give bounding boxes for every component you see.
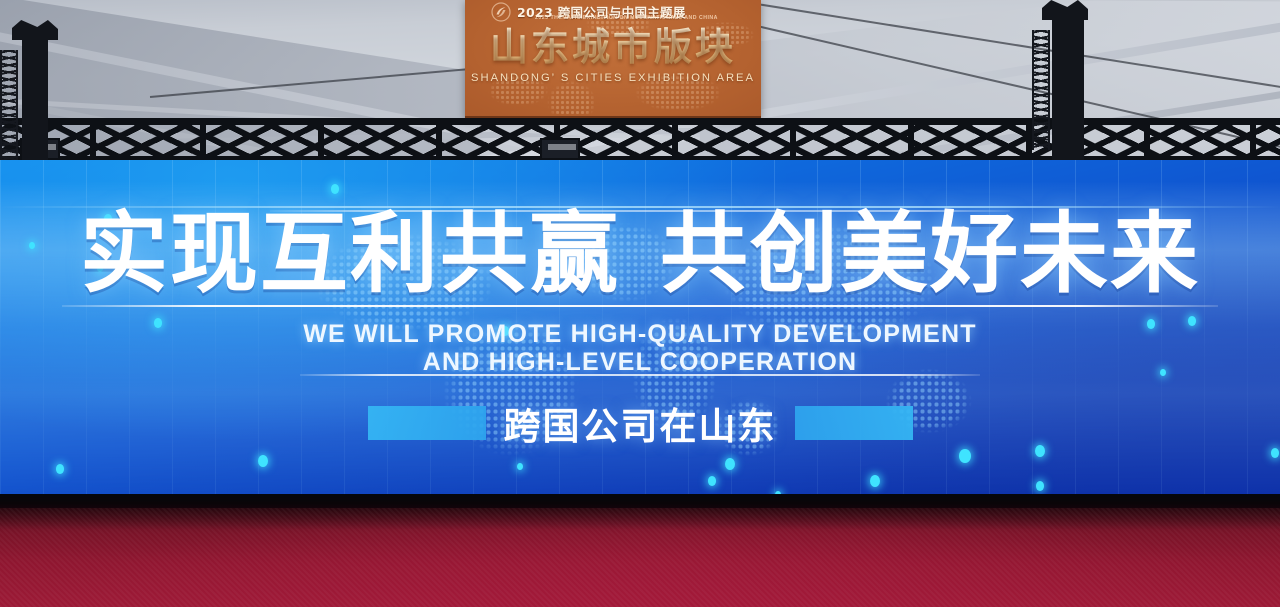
accent-bar-right xyxy=(795,406,913,440)
tower-mast-lattice xyxy=(1032,30,1050,150)
truss-post xyxy=(1144,118,1150,164)
led-particle-dot xyxy=(870,475,880,487)
truss-top-chord xyxy=(0,118,1280,125)
subtitle-line-2: AND HIGH-LEVEL COOPERATION xyxy=(0,348,1280,376)
led-headline: 实现互利共赢共创美好未来 xyxy=(0,206,1280,302)
shandong-exhibition-logo-icon xyxy=(491,2,511,22)
truss-post xyxy=(200,118,206,164)
accent-bar-left xyxy=(368,406,486,440)
stage-light-tower-right xyxy=(1052,10,1084,160)
led-particle-dot xyxy=(725,458,735,470)
truss-post xyxy=(790,118,796,164)
led-particle-dot xyxy=(1036,481,1044,491)
sign-main-title-en: SHANDONG’ S CITIES EXHIBITION AREA xyxy=(465,72,761,84)
screenshot-root: 2023 跨国公司与中国主题展 2023 THEMATIC EXHIBITION… xyxy=(0,0,1280,607)
led-bottom-title-cn: 跨国公司在山东 xyxy=(504,396,777,450)
led-subtitle: WE WILL PROMOTE HIGH-QUALITY DEVELOPMENT… xyxy=(0,320,1280,376)
led-particle-dot xyxy=(258,455,268,467)
sign-main-title-cn: 山东城市版块 xyxy=(465,26,761,68)
sign-top-title-en: 2023 THEMATIC EXHIBITION ON MULTINATIONA… xyxy=(535,15,718,21)
hanging-exhibition-sign: 2023 跨国公司与中国主题展 2023 THEMATIC EXHIBITION… xyxy=(465,0,761,118)
truss-mounted-fixture xyxy=(540,138,580,160)
subtitle-line-1: WE WILL PROMOTE HIGH-QUALITY DEVELOPMENT xyxy=(0,320,1280,348)
red-carpet-floor xyxy=(0,508,1280,607)
carpet-weave-texture xyxy=(0,508,1280,607)
stage-truss-beam xyxy=(0,118,1280,164)
truss-post xyxy=(90,118,96,164)
led-particle-dot xyxy=(56,464,64,474)
tower-mast-lattice xyxy=(0,50,18,170)
truss-post xyxy=(672,118,678,164)
truss-post xyxy=(318,118,324,164)
headline-part-2: 共创美好未来 xyxy=(660,202,1200,305)
truss-post xyxy=(436,118,442,164)
truss-lattice xyxy=(0,123,1280,159)
led-bottom-title-row: 跨国公司在山东 xyxy=(0,396,1280,450)
headline-underline xyxy=(62,305,1218,307)
truss-post xyxy=(908,118,914,164)
stage-light-tower-left xyxy=(22,30,48,160)
headline-part-1: 实现互利共赢 xyxy=(80,202,620,305)
truss-post xyxy=(1250,118,1256,164)
led-particle-dot xyxy=(708,476,716,486)
led-particle-dot xyxy=(331,184,339,194)
